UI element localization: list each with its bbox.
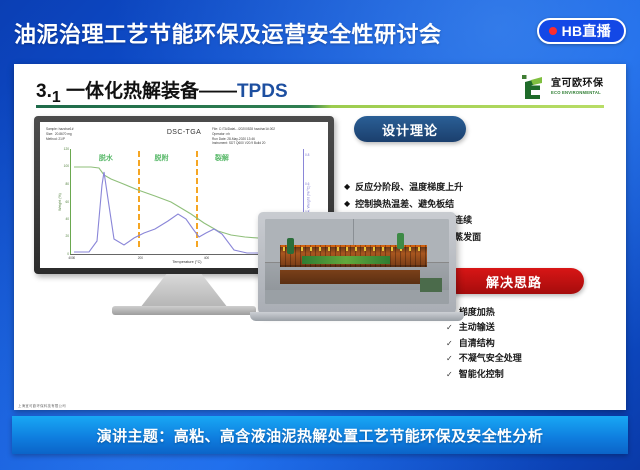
slide-title-en: TPDS: [237, 81, 288, 102]
x-tick: 400: [68, 256, 73, 260]
slide-canvas: 3.1 一体化热解装备——TPDS 宜可欧环保 ECO ENVIRONMENTA…: [14, 64, 626, 410]
operator-figure: [287, 238, 294, 254]
top-header-bar: 油泥治理工艺节能环保及运营安全性研讨会 HB直播: [0, 0, 640, 62]
monitor-base: [112, 306, 256, 315]
laptop-illustration: [250, 212, 464, 332]
check-bullet-icon: ✓: [446, 352, 453, 366]
presentation-slide-view: 油泥治理工艺节能环保及运营安全性研讨会 HB直播 3.1 一体化热解装备——TP…: [0, 0, 640, 470]
list-item-label: 主动输送: [459, 320, 495, 335]
chart-meta-right: File: C:\TA\Data\...\20200528 hazchar1#.…: [212, 127, 275, 146]
slide-number: 3.: [36, 81, 52, 102]
slide-title: 3.1 一体化热解装备——TPDS: [36, 76, 288, 107]
company-logo: 宜可欧环保 ECO ENVIRONMENTAL: [520, 72, 612, 102]
list-item: ✓ 梯度加热: [446, 305, 616, 320]
live-badge-label: HB直播: [562, 21, 611, 41]
x-tick: 400: [204, 256, 209, 260]
chart-title: DSC-TGA: [40, 129, 328, 136]
logo-name-en: ECO ENVIRONMENTAL: [551, 91, 604, 95]
check-bullet-icon: ✓: [446, 368, 453, 382]
list-item-label: 自清结构: [459, 336, 495, 351]
solution-approach-list: ✓ 梯度加热 ✓ 主动输送 ✓ 自清结构 ✓ 不凝气安全处理 ✓ 智能化控制: [446, 305, 616, 382]
y-axis-title: Weight (%): [58, 193, 62, 211]
monitor-stand: [140, 274, 228, 308]
y-tick: 40: [65, 217, 69, 221]
list-item-label: 智能化控制: [459, 367, 504, 382]
y-tick: 100: [64, 164, 69, 168]
logo-name-cn: 宜可欧环保: [551, 79, 604, 89]
list-item: ◆ 反应分阶段、温度梯度上升: [344, 179, 614, 196]
operator-figure: [397, 233, 404, 249]
list-item-label: 不凝气安全处理: [459, 351, 522, 366]
event-title: 油泥治理工艺节能环保及运营安全性研讨会: [14, 17, 442, 49]
list-item: ✓ 不凝气安全处理: [446, 351, 616, 366]
eco-leaf-icon: [520, 74, 546, 100]
solution-approach-pill: 解决思路: [444, 268, 584, 294]
equipment-photo: [265, 219, 449, 304]
photo-floor: [265, 290, 449, 304]
x-axis-title: Temperature (°C): [172, 260, 201, 264]
y-tick: 120: [64, 147, 69, 151]
diamond-bullet-icon: ◆: [344, 196, 350, 212]
y-tick: 60: [65, 200, 69, 204]
live-dot-icon: [549, 27, 557, 35]
list-item: ◆ 控制换热温差、避免板结: [344, 196, 614, 213]
pyrolysis-unit-lower-body: [280, 270, 420, 284]
title-underline-rule: [36, 105, 604, 108]
live-stream-badge[interactable]: HB直播: [537, 18, 626, 44]
list-item-label: 梯度加热: [459, 305, 495, 320]
design-theory-pill: 设计理论: [354, 116, 466, 142]
logo-text-block: 宜可欧环保 ECO ENVIRONMENTAL: [551, 79, 604, 95]
equipment-crate: [420, 278, 442, 292]
bottom-topic-banner: 演讲主题：高粘、高含液油泥热解处置工艺节能环保及安全性分析: [12, 416, 628, 454]
solution-approach-label: 解决思路: [486, 272, 542, 291]
y-tick: 20: [65, 234, 69, 238]
laptop-base: [250, 312, 464, 321]
bottom-topic-text: 演讲主题：高粘、高含液油泥热解处置工艺节能环保及安全性分析: [97, 425, 544, 446]
pyrolysis-unit-green-panel: [302, 256, 390, 264]
diamond-bullet-icon: ◆: [344, 179, 350, 195]
slide-title-cn: 一体化热解装备——: [61, 81, 237, 102]
y-tick: 80: [65, 182, 69, 186]
laptop-lid: [258, 212, 456, 314]
x-tick: 200: [138, 256, 143, 260]
list-item-label: 控制换热温差、避免板结: [355, 196, 454, 213]
slide-number-sub: 1: [52, 89, 61, 106]
list-item: ✓ 主动输送: [446, 320, 616, 335]
slide-footer-note: 上海宜可欧环保科技有限公司: [18, 403, 66, 408]
list-item: ✓ 自清结构: [446, 336, 616, 351]
chart-header: Sample: hazchar1# Size: 20.8670 mg Metho…: [40, 122, 328, 148]
y2-tick: 0.8: [305, 153, 309, 157]
list-item-label: 反应分阶段、温度梯度上升: [355, 179, 463, 196]
check-bullet-icon: ✓: [446, 337, 453, 351]
list-item: ✓ 智能化控制: [446, 367, 616, 382]
design-theory-label: 设计理论: [382, 120, 438, 139]
